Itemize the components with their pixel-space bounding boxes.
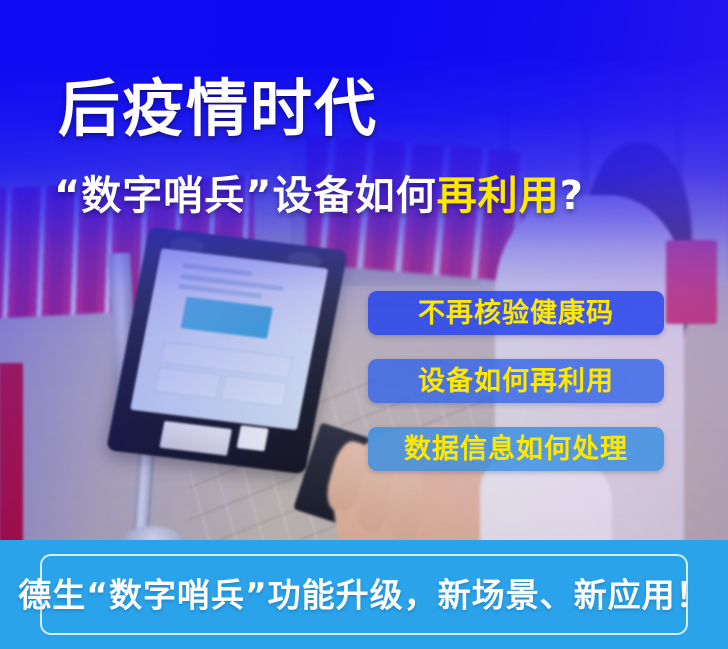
feature-pill-3[interactable]: 数据信息如何处理	[368, 427, 664, 471]
bottom-banner: 德生“数字哨兵”功能升级，新场景、新应用！	[0, 540, 728, 649]
banner-text: 德生“数字哨兵”功能升级，新场景、新应用！	[0, 578, 728, 611]
feature-pill-2-label: 设备如何再利用	[418, 368, 614, 395]
subtitle: “数字哨兵”设备如何再利用?	[54, 176, 584, 216]
feature-pill-list: 不再核验健康码 设备如何再利用 数据信息如何处理	[368, 291, 664, 471]
headline: 后疫情时代	[58, 78, 378, 140]
subtitle-prefix: “数字哨兵”设备如何	[54, 173, 437, 219]
promo-poster: 后疫情时代 “数字哨兵”设备如何再利用? 不再核验健康码 设备如何再利用 数据信…	[0, 0, 728, 649]
feature-pill-3-label: 数据信息如何处理	[404, 436, 628, 463]
feature-pill-2[interactable]: 设备如何再利用	[368, 359, 664, 403]
subtitle-highlight: 再利用	[437, 173, 560, 219]
subtitle-suffix: ?	[560, 173, 584, 219]
feature-pill-1-label: 不再核验健康码	[418, 300, 614, 327]
feature-pill-1[interactable]: 不再核验健康码	[368, 291, 664, 335]
